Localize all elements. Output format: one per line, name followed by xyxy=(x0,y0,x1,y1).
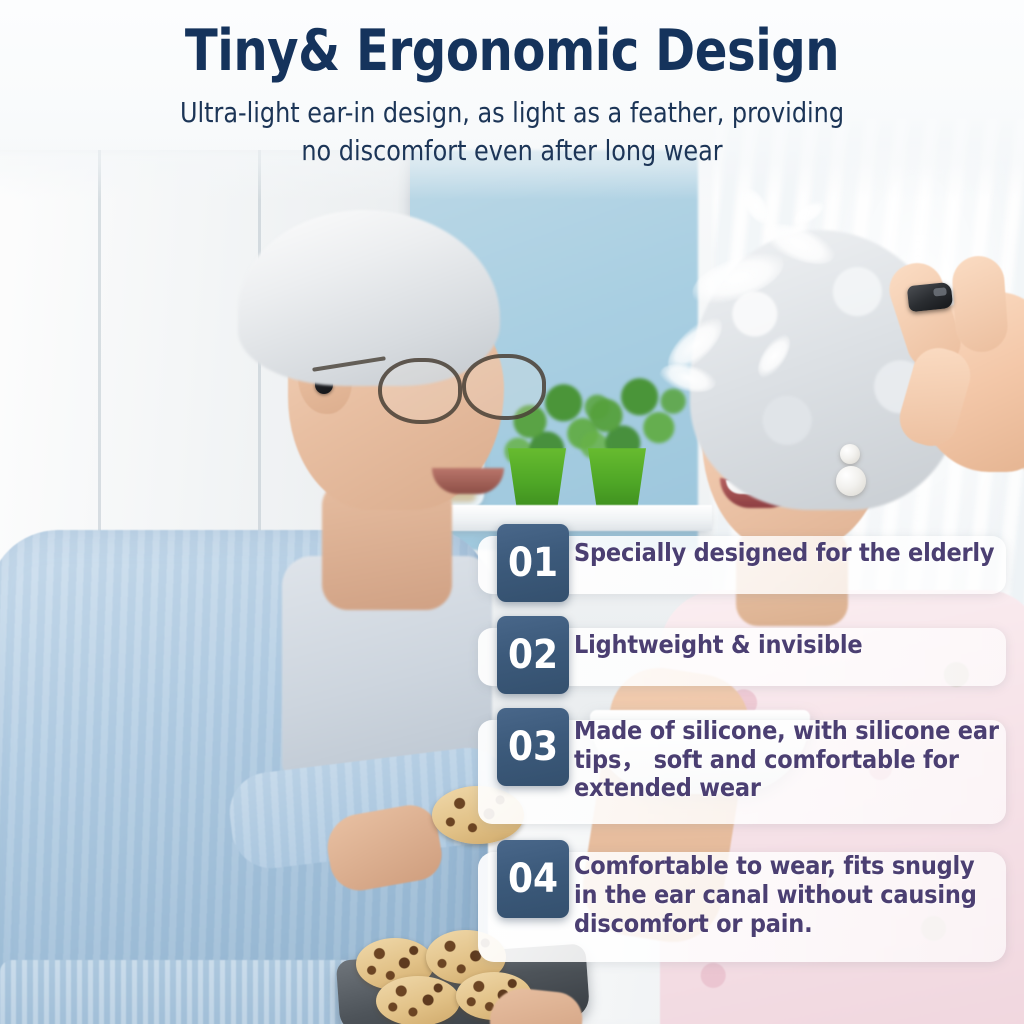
subtitle-line-1: Ultra-light ear-in design, as light as a… xyxy=(26,94,999,132)
header: Tiny& Ergonomic Design Ultra-light ear-i… xyxy=(0,0,1024,200)
feature-label: Lightweight & invisible xyxy=(574,616,1018,674)
feature-label: Specially designed for the elderly xyxy=(574,524,1018,582)
feature-item-03: 03 Made of silicone, with silicone ear t… xyxy=(478,708,1018,826)
pearl-earring-stud xyxy=(840,444,860,464)
pearl-earring-drop xyxy=(836,466,866,496)
feature-label: Made of silicone, with silicone ear tips… xyxy=(574,708,1018,812)
feature-item-01: 01 Specially designed for the elderly xyxy=(478,524,1018,602)
feature-item-04: 04 Comfortable to wear, fits snugly in t… xyxy=(478,840,1018,964)
feature-number-badge: 01 xyxy=(497,524,569,602)
middle-finger xyxy=(951,254,1010,353)
glasses-lens-left xyxy=(378,358,462,424)
eyeglasses xyxy=(378,354,548,428)
feature-number-badge: 03 xyxy=(497,708,569,786)
tray-cookie xyxy=(376,976,460,1024)
feature-number-badge: 02 xyxy=(497,616,569,694)
subtitle-line-2: no discomfort even after long wear xyxy=(26,132,999,170)
glasses-lens-right xyxy=(462,354,546,420)
feature-list: 01 Specially designed for the elderly 02… xyxy=(478,524,1018,978)
hearing-aid-product-icon xyxy=(907,282,953,312)
product-marketing-image: Tiny& Ergonomic Design Ultra-light ear-i… xyxy=(0,0,1024,1024)
feature-number-badge: 04 xyxy=(497,840,569,918)
page-title: Tiny& Ergonomic Design xyxy=(31,22,994,80)
feature-item-02: 02 Lightweight & invisible xyxy=(478,616,1018,694)
page-subtitle: Ultra-light ear-in design, as light as a… xyxy=(26,94,999,169)
feature-label: Comfortable to wear, fits snugly in the … xyxy=(574,840,1018,950)
